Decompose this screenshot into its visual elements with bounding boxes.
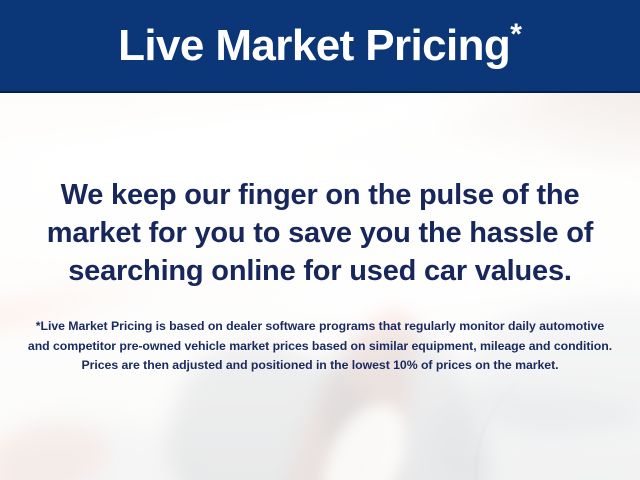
header-banner: Live Market Pricing*: [0, 0, 640, 93]
content-area: We keep our finger on the pulse of the m…: [0, 93, 640, 480]
marketing-slide: Live Market Pricing* We keep our finger …: [0, 0, 640, 480]
title-asterisk: *: [510, 18, 522, 51]
disclaimer-text: *Live Market Pricing is based on dealer …: [25, 317, 615, 376]
headline-text: We keep our finger on the pulse of the m…: [20, 176, 620, 290]
page-title: Live Market Pricing*: [118, 20, 522, 71]
page-title-text: Live Market Pricing: [118, 21, 510, 70]
